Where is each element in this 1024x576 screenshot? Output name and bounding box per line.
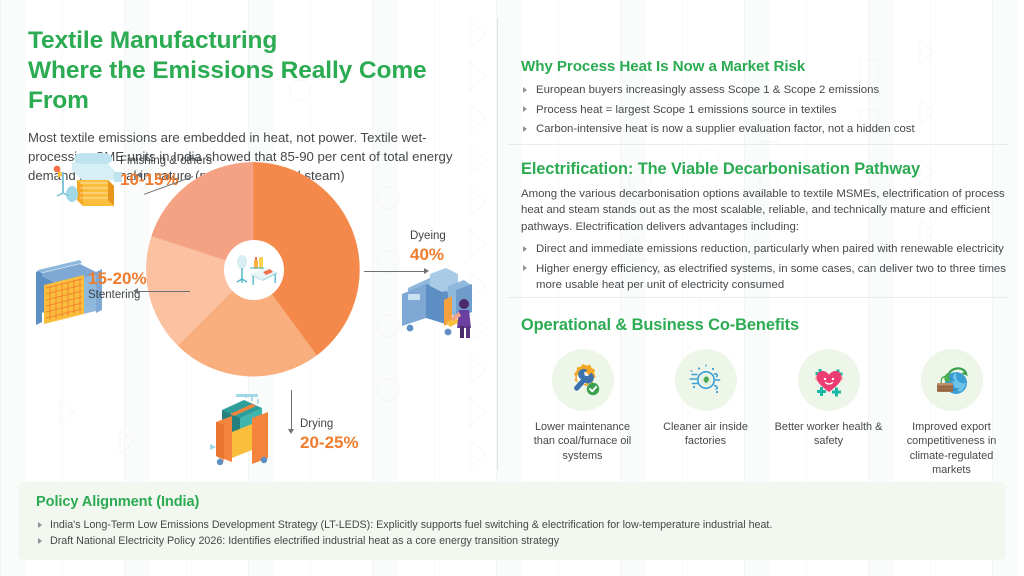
leader-arrow-drying <box>288 429 294 434</box>
section-cobenefits-title: Operational & Business Co-Benefits <box>521 316 1013 335</box>
cobenefit-label: Cleaner air inside factories <box>647 420 765 449</box>
cobenefit-item-clean-air: Cleaner air inside factories <box>644 349 767 478</box>
horizontal-divider-top <box>508 144 1008 145</box>
cobenefit-item-worker-health: Better worker health & safety <box>767 349 890 478</box>
leader-arrow-stentering <box>133 288 138 294</box>
section-electrification-title: Electrification: The Viable Decarbonisat… <box>521 160 1013 179</box>
slice-value-stentering: 15-20% <box>88 268 147 289</box>
list-item: Carbon-intensive heat is now a supplier … <box>521 121 1013 138</box>
vertical-divider <box>497 18 498 470</box>
list-item: Direct and immediate emissions reduction… <box>521 241 1013 258</box>
pie-center-hole <box>224 240 284 300</box>
right-column: Why Process Heat Is Now a Market Risk Eu… <box>521 58 1013 477</box>
cobenefit-label: Improved export competitiveness in clima… <box>893 420 1011 478</box>
leader-arrow-finishing <box>136 172 141 178</box>
gear-wrench-check-icon <box>563 360 603 400</box>
electrification-paragraph: Among the various decarbonisation option… <box>521 186 1013 236</box>
finishing-roller-icon <box>44 150 130 220</box>
sewing-workstation-icon <box>229 248 279 292</box>
dyeing-machine-icon <box>390 260 486 342</box>
clean-air-leaf-icon <box>686 360 726 400</box>
slice-name-finishing: Finishing & others <box>120 155 212 169</box>
emissions-pie-chart: Finishing & others 10-15% 15-20% Stenter… <box>28 140 488 470</box>
section-electrification: Electrification: The Viable Decarbonisat… <box>521 160 1013 294</box>
section-market-risk-title: Why Process Heat Is Now a Market Risk <box>521 58 1013 75</box>
electrification-bullet-list: Direct and immediate emissions reduction… <box>521 241 1013 294</box>
list-item: India's Long-Term Low Emissions Developm… <box>36 517 988 533</box>
list-item: Draft National Electricity Policy 2026: … <box>36 533 988 549</box>
market-risk-bullet-list: European buyers increasingly assess Scop… <box>521 82 1013 138</box>
leader-line-stentering <box>138 291 190 292</box>
slice-value-finishing: 10-15% <box>120 169 212 190</box>
policy-title: Policy Alignment (India) <box>36 494 988 510</box>
page-title-line-1: Textile Manufacturing <box>28 26 480 56</box>
cobenefit-icon-wrap <box>675 349 737 411</box>
cobenefit-item-export: Improved export competitiveness in clima… <box>890 349 1013 478</box>
cobenefit-item-maintenance: Lower maintenance than coal/furnace oil … <box>521 349 644 478</box>
policy-alignment-panel: Policy Alignment (India) India's Long-Te… <box>18 482 1006 560</box>
slice-name-dyeing: Dyeing <box>410 230 446 244</box>
slice-label-stentering: 15-20% Stentering <box>88 268 147 303</box>
policy-bullet-list: India's Long-Term Low Emissions Developm… <box>36 517 988 549</box>
drying-machine-icon <box>200 392 286 468</box>
section-market-risk: Why Process Heat Is Now a Market Risk Eu… <box>521 58 1013 138</box>
cobenefit-icon-wrap <box>798 349 860 411</box>
page-title: Textile Manufacturing Where the Emission… <box>28 26 480 116</box>
page-title-line-2: Where the Emissions Really Come From <box>28 56 480 116</box>
list-item: European buyers increasingly assess Scop… <box>521 82 1013 99</box>
slice-value-drying: 20-25% <box>300 432 359 453</box>
horizontal-divider-bottom <box>508 297 1008 298</box>
heart-muscle-health-icon <box>809 360 849 400</box>
cobenefit-label: Lower maintenance than coal/furnace oil … <box>524 420 642 463</box>
list-item: Process heat = largest Scope 1 emissions… <box>521 102 1013 119</box>
section-cobenefits: Operational & Business Co-Benefits Lower… <box>521 316 1013 478</box>
cobenefit-icon-wrap <box>921 349 983 411</box>
globe-export-growth-icon <box>932 360 972 400</box>
cobenefit-label: Better worker health & safety <box>770 420 888 449</box>
slice-label-drying: Drying 20-25% <box>300 418 359 453</box>
list-item: Higher energy efficiency, as electrified… <box>521 261 1013 294</box>
slice-name-drying: Drying <box>300 418 359 432</box>
cobenefits-row: Lower maintenance than coal/furnace oil … <box>521 349 1013 478</box>
leader-line-drying <box>291 390 292 430</box>
cobenefit-icon-wrap <box>552 349 614 411</box>
